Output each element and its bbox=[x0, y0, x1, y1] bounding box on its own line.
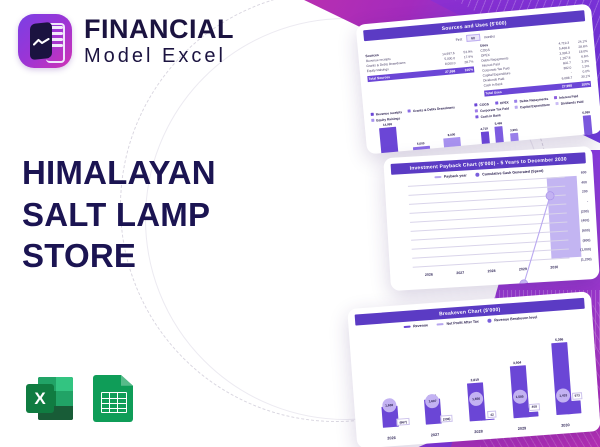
total-uses-value: 27,998 bbox=[546, 83, 572, 89]
legend-swatch-icon bbox=[476, 115, 479, 118]
legend-swatch-icon bbox=[495, 102, 498, 105]
legend-label: Cumulative Cash Generated (Spent) bbox=[482, 169, 543, 177]
y-tick-label: (600) bbox=[582, 228, 590, 232]
legend-swatch-icon bbox=[437, 323, 444, 326]
legend-label: Interest Paid bbox=[559, 94, 578, 100]
y-tick-label: (200) bbox=[581, 209, 589, 213]
legend-item: Grants & Debts Drawdowns bbox=[408, 105, 455, 113]
y-tick-label: 200 bbox=[582, 190, 588, 194]
legend-dot-icon bbox=[488, 319, 492, 323]
period-value[interactable]: 60 bbox=[466, 34, 480, 42]
legend-swatch-icon bbox=[474, 103, 477, 106]
uses-column: Uses COGS4,719.324.1%OPEX5,468.828.6%Deb… bbox=[480, 34, 591, 96]
legend-label: Grants & Debts Drawdowns bbox=[413, 105, 455, 113]
payback-plot: 600400200-(200)(400)(600)(800)(1,000)(1,… bbox=[392, 175, 592, 278]
logo-sparkline-icon bbox=[33, 38, 50, 46]
sources-and-uses-card[interactable]: Sources and Uses ($'000) First 60 months… bbox=[356, 4, 600, 155]
legend-swatch-icon bbox=[515, 100, 518, 103]
excel-x-glyph: X bbox=[26, 384, 54, 413]
brand-wordmark: FINANCIAL Model Excel bbox=[84, 16, 234, 66]
legend-label: Revenue bbox=[413, 323, 428, 328]
legend-swatch-icon bbox=[554, 96, 557, 99]
financial-model-logo-icon bbox=[18, 14, 72, 68]
legend-swatch-icon bbox=[408, 109, 411, 112]
legend-label: Dividends Paid bbox=[561, 99, 584, 105]
bar-column: 14,998 bbox=[379, 121, 399, 154]
legend-item: Corporate Tax Paid bbox=[475, 106, 509, 113]
legend-net-profit: Net Profit After Tax bbox=[437, 320, 479, 327]
legend-swatch-icon bbox=[434, 176, 441, 179]
y-tick-label: 400 bbox=[581, 180, 587, 184]
y-tick-label: (1,200) bbox=[581, 257, 592, 262]
x-tick-label: 2028 bbox=[487, 269, 495, 273]
y-tick-label: 600 bbox=[581, 170, 587, 174]
bar-value-label: 14,998 bbox=[383, 122, 393, 127]
legend-item: Capital Expenditure bbox=[515, 102, 550, 109]
bar-value-label: 5,469 bbox=[494, 121, 502, 126]
bar-value-label: 4,719 bbox=[480, 127, 488, 132]
row-value: 6,088.7 bbox=[546, 75, 572, 82]
legend-swatch-icon bbox=[515, 106, 518, 109]
total-sources-pct: 100% bbox=[455, 67, 473, 73]
row-value: 8,000.0 bbox=[429, 61, 455, 68]
breakeven-plot: 1,546(667)1,6381,848(336)1,6972,819421,6… bbox=[356, 321, 593, 443]
cover-artboard: FINANCIAL Model Excel HIMALAYAN SALT LAM… bbox=[0, 0, 600, 447]
legend-swatch-icon bbox=[556, 102, 559, 105]
bar-value-label: 3,993 bbox=[510, 128, 518, 133]
legend-cumulative-cash: Cumulative Cash Generated (Spent) bbox=[476, 169, 544, 177]
x-tick-label: 2030 bbox=[550, 265, 558, 269]
legend-item: Dividends Paid bbox=[556, 99, 584, 106]
legend-label: Capital Expenditure bbox=[520, 102, 550, 109]
y-tick-label: (400) bbox=[581, 219, 589, 223]
breakeven-level-line bbox=[362, 321, 595, 447]
y-tick-label: (800) bbox=[582, 238, 590, 242]
period-suffix: months bbox=[484, 34, 495, 39]
sources-column: Sources Revenue receipts14,997.653.9%Gra… bbox=[365, 45, 476, 107]
page-title-line-3: STORE bbox=[22, 235, 292, 277]
row-pct: 28.7% bbox=[455, 59, 473, 66]
period-prefix: First bbox=[455, 37, 462, 42]
legend-label: Revenue Breakeven level bbox=[494, 315, 537, 322]
bar-rect bbox=[379, 126, 399, 154]
row-pct: 30.1% bbox=[572, 74, 590, 81]
legend-item: COGS bbox=[474, 102, 489, 107]
bar-value-label: 5,000 bbox=[417, 142, 425, 147]
investment-payback-card[interactable]: Investment Payback Chart ($'000) - 5 Yea… bbox=[383, 146, 600, 291]
legend-label: Payback year bbox=[444, 173, 467, 178]
file-format-badges: X bbox=[26, 375, 133, 422]
legend-payback-year: Payback year bbox=[434, 173, 467, 179]
breakeven-card[interactable]: Breakeven Chart ($'000) Revenue Net Prof… bbox=[347, 291, 600, 447]
legend-revenue: Revenue bbox=[404, 323, 429, 329]
excel-icon: X bbox=[26, 375, 73, 422]
total-uses-pct: 100% bbox=[572, 82, 590, 88]
bar-value-label: 8,000 bbox=[447, 132, 455, 137]
x-tick-label: 2026 bbox=[425, 273, 433, 277]
legend-label: Net Profit After Tax bbox=[446, 320, 479, 326]
legend-swatch-icon bbox=[371, 113, 374, 116]
legend-swatch-icon bbox=[404, 325, 411, 328]
google-sheets-icon bbox=[93, 375, 133, 422]
legend-label: OPEX bbox=[500, 100, 509, 105]
legend-item: OPEX bbox=[495, 100, 509, 105]
legend-breakeven-level: Revenue Breakeven level bbox=[488, 315, 538, 323]
bar-value-label: 6,089 bbox=[582, 110, 590, 115]
total-sources-value: 27,998 bbox=[429, 69, 455, 75]
page-title-line-2: SALT LAMP bbox=[22, 194, 292, 236]
legend-dot-icon bbox=[476, 173, 480, 177]
brand-line-2: Model Excel bbox=[84, 46, 234, 66]
y-tick-label: (1,000) bbox=[580, 247, 591, 252]
page-title: HIMALAYAN SALT LAMP STORE bbox=[22, 152, 292, 277]
legend-swatch-icon bbox=[475, 109, 478, 112]
x-tick-label: 2027 bbox=[456, 271, 464, 275]
y-tick-label: - bbox=[587, 199, 588, 203]
legend-swatch-icon bbox=[371, 119, 374, 122]
page-title-line-1: HIMALAYAN bbox=[22, 152, 292, 194]
brand-line-1: FINANCIAL bbox=[84, 16, 234, 43]
brand-logo: FINANCIAL Model Excel bbox=[18, 14, 234, 68]
legend-label: COGS bbox=[479, 102, 489, 107]
legend-label: Corporate Tax Paid bbox=[480, 106, 509, 113]
x-tick-label: 2029 bbox=[519, 267, 527, 271]
